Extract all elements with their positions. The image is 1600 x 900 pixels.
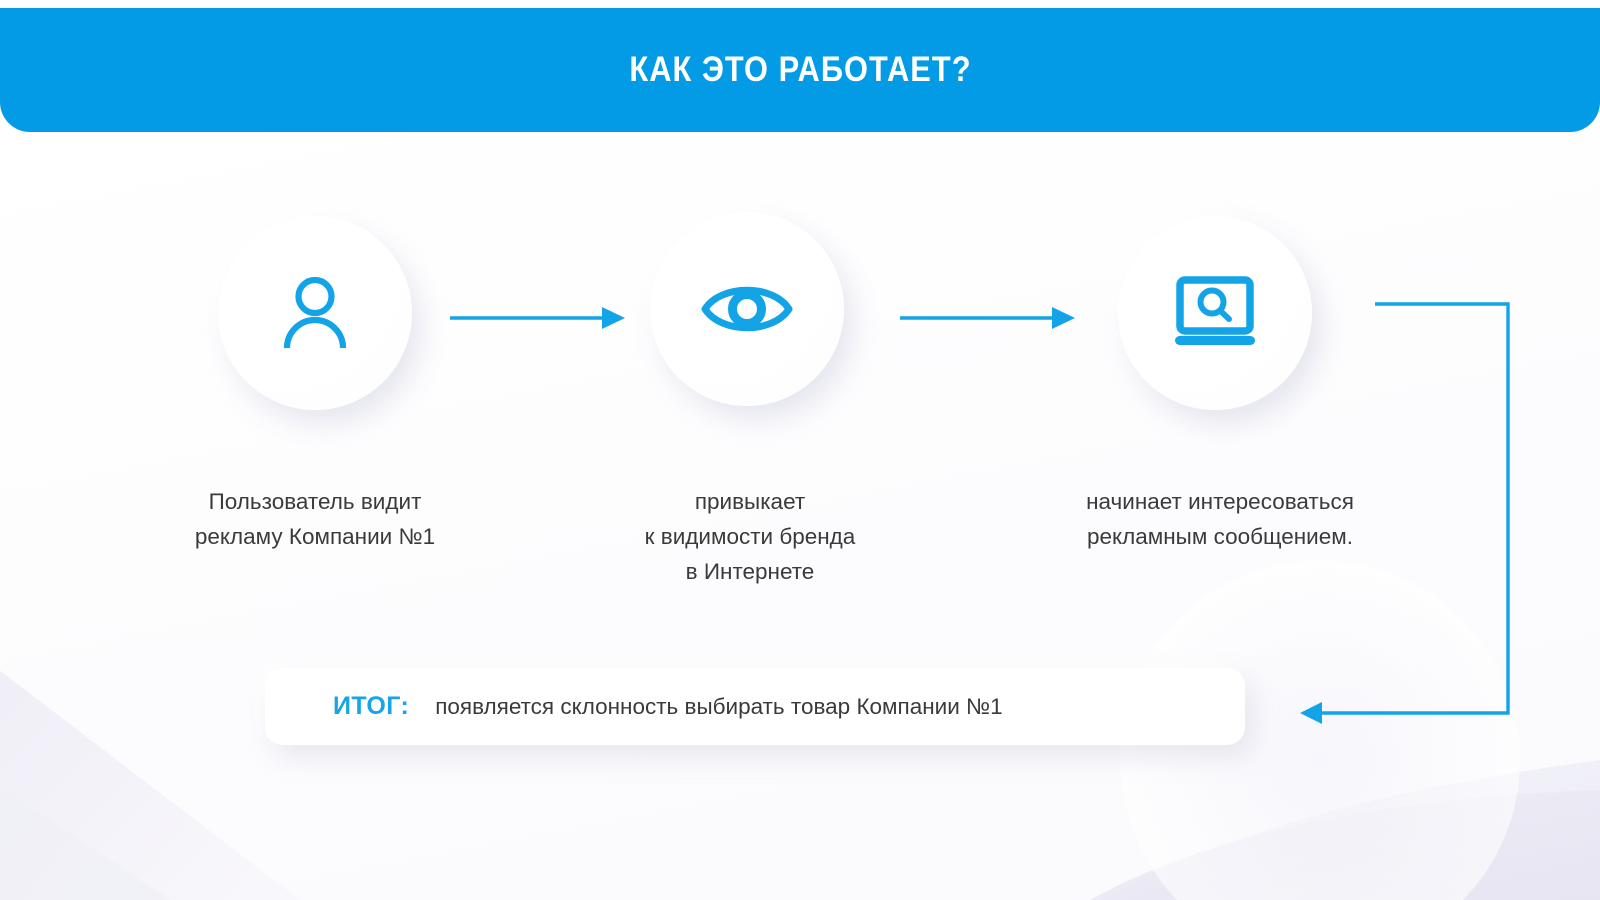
user-icon: [272, 270, 358, 356]
arrow-step1-to-step2: [450, 300, 625, 336]
step-1-caption: Пользователь видит рекламу Компании №1: [135, 484, 495, 554]
eye-icon: [699, 274, 795, 344]
infographic-root: КАК ЭТО РАБОТАЕТ? Пользователь видит рек…: [0, 0, 1600, 900]
result-text: появляется склонность выбирать товар Ком…: [435, 694, 1002, 720]
laptop-search-icon: [1169, 274, 1261, 352]
arrow-step2-to-step3: [900, 300, 1075, 336]
step-2-caption: привыкает к видимости бренда в Интернете: [570, 484, 930, 589]
loop-arrow-step3-to-result: [1270, 290, 1530, 740]
step-1-icon-circle[interactable]: [218, 216, 412, 410]
flow-diagram: Пользователь видит рекламу Компании №1 п…: [0, 0, 1600, 900]
result-label: ИТОГ:: [333, 692, 409, 721]
result-card[interactable]: ИТОГ: появляется склонность выбирать тов…: [265, 668, 1245, 745]
step-2-icon-circle[interactable]: [650, 212, 844, 406]
